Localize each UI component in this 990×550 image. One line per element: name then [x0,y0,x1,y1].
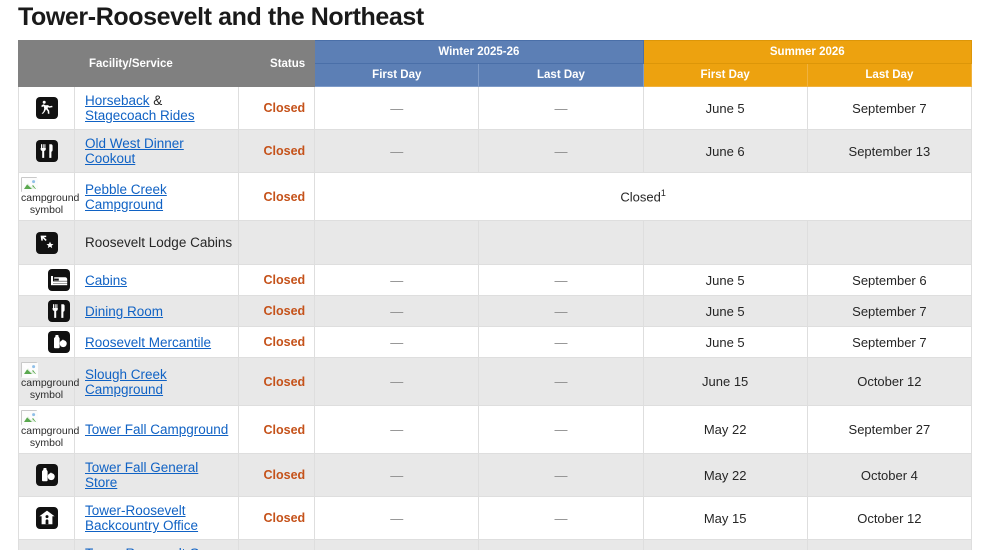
summer-last-day-cell: September 7 [807,327,971,358]
table-row: Tower Fall General StoreClosed——May 22Oc… [19,454,972,497]
winter-last-day-cell: — [479,358,643,406]
status-cell: Closed [239,130,315,173]
summer-last-day-cell: September 6 [807,540,971,550]
icon-cell: campgroundsymbol [19,406,75,454]
winter-last-day-cell: — [479,130,643,173]
table-row: campgroundsymbolPebble Creek CampgroundC… [19,173,972,221]
facility-cell: Roosevelt Lodge Cabins [75,221,239,265]
facility-cell: Old West Dinner Cookout [75,130,239,173]
store-icon [36,464,58,486]
schedule-page: Tower-Roosevelt and the Northeast Facili… [0,0,990,550]
broken-image-alt-line-2: symbol [21,437,72,449]
header-icon-column [19,41,75,87]
winter-last-day-cell: — [479,265,643,296]
status-cell: Closed [239,406,315,454]
winter-last-day-cell: — [479,296,643,327]
icon-cell [19,540,75,550]
header-winter-last-day: Last Day [479,64,643,87]
lodging-cabins-icon [36,232,58,254]
facility-link[interactable]: Tower Fall Campground [85,422,228,437]
icon-cell: campgroundsymbol [19,358,75,406]
icon-cell [19,497,75,540]
winter-first-day-cell: — [315,358,479,406]
facility-cell: Slough Creek Campground [75,358,239,406]
summer-first-day-cell: June 5 [643,296,807,327]
broken-image-icon [21,410,37,425]
facility-link[interactable]: Pebble Creek Campground [85,182,167,212]
winter-first-day-cell [315,221,479,265]
header-status: Status [239,41,315,87]
winter-first-day-cell: — [315,540,479,550]
broken-image-alt-line-1: campground [21,425,72,437]
icon-cell [19,221,75,265]
restaurant-icon [48,300,70,322]
summer-first-day-cell [643,221,807,265]
icon-cell [19,296,75,327]
status-cell: Closed [239,358,315,406]
summer-first-day-cell: May 22 [643,454,807,497]
broken-image-alt-line-1: campground [21,192,72,204]
facility-link[interactable]: Dining Room [85,304,163,319]
table-row: Tower-Roosevelt Gas Station (fuel availa… [19,540,972,550]
summer-last-day-cell: September 7 [807,296,971,327]
winter-first-day-cell: — [315,296,479,327]
facility-cell: Tower-Roosevelt Gas Station (fuel availa… [75,540,239,550]
icon-cell [19,327,75,358]
winter-last-day-cell: — [479,454,643,497]
winter-last-day-cell: — [479,540,643,550]
table-row: Dining RoomClosed——June 5September 7 [19,296,972,327]
facility-link[interactable]: Slough Creek Campground [85,367,167,397]
ranger-station-icon [36,507,58,529]
table-row: Horseback & Stagecoach RidesClosed——June… [19,87,972,130]
broken-image-alt-line-2: symbol [21,389,72,401]
page-title: Tower-Roosevelt and the Northeast [0,0,990,32]
icon-cell [19,87,75,130]
name-joiner: & [150,93,163,108]
summer-first-day-cell: May 22 [643,406,807,454]
summer-first-day-cell: June 5 [643,87,807,130]
status-span-cell: Closed1 [315,173,972,221]
summer-first-day-cell: June 15 [643,358,807,406]
status-cell [239,221,315,265]
table-header-group-row: Facility/Service Status Winter 2025-26 S… [19,41,972,64]
status-cell: Closed [239,296,315,327]
facility-cell: Tower Fall General Store [75,454,239,497]
status-cell: Closed [239,173,315,221]
table-row: CabinsClosed——June 5September 6 [19,265,972,296]
header-winter-first-day: First Day [315,64,479,87]
facility-link[interactable]: Horseback [85,93,150,108]
facility-link[interactable]: Tower Fall General Store [85,460,198,490]
status-cell: Closed [239,265,315,296]
winter-last-day-cell: — [479,87,643,130]
facility-cell: Roosevelt Mercantile [75,327,239,358]
summer-last-day-cell: September 27 [807,406,971,454]
summer-first-day-cell: June 5 [643,540,807,550]
facility-cell: Cabins [75,265,239,296]
facility-cell: Tower Fall Campground [75,406,239,454]
summer-last-day-cell: October 4 [807,454,971,497]
header-winter-group: Winter 2025-26 [315,41,643,64]
facility-cell: Horseback & Stagecoach Rides [75,87,239,130]
summer-last-day-cell: September 6 [807,265,971,296]
winter-last-day-cell: — [479,497,643,540]
bed-icon [48,269,70,291]
facility-cell: Pebble Creek Campground [75,173,239,221]
footnote-ref: 1 [661,188,666,198]
header-summer-last-day: Last Day [807,64,971,87]
winter-first-day-cell: — [315,327,479,358]
table-row: campgroundsymbolTower Fall CampgroundClo… [19,406,972,454]
status-cell: Closed [239,497,315,540]
table-row: Roosevelt Lodge Cabins [19,221,972,265]
broken-image-alt-line-1: campground [21,377,72,389]
horseback-rider-icon [36,97,58,119]
winter-first-day-cell: — [315,87,479,130]
facility-link[interactable]: Old West Dinner Cookout [85,136,184,166]
icon-cell [19,454,75,497]
facility-name: Roosevelt Lodge Cabins [85,235,232,250]
facility-cell: Tower-Roosevelt Backcountry Office [75,497,239,540]
summer-first-day-cell: June 5 [643,265,807,296]
restaurant-icon [36,140,58,162]
header-summer-group: Summer 2026 [643,41,971,64]
summer-first-day-cell: June 5 [643,327,807,358]
header-facility: Facility/Service [75,41,239,87]
table-body: Horseback & Stagecoach RidesClosed——June… [19,87,972,550]
icon-cell [19,265,75,296]
table-row: Old West Dinner CookoutClosed——June 6Sep… [19,130,972,173]
summer-first-day-cell: June 6 [643,130,807,173]
summer-first-day-cell: May 15 [643,497,807,540]
winter-first-day-cell: — [315,130,479,173]
table-header: Facility/Service Status Winter 2025-26 S… [19,41,972,87]
winter-first-day-cell: — [315,265,479,296]
summer-last-day-cell: October 12 [807,497,971,540]
summer-last-day-cell: September 13 [807,130,971,173]
broken-image-alt-line-2: symbol [21,204,72,216]
summer-last-day-cell: October 12 [807,358,971,406]
broken-image-icon [21,177,37,192]
table-row: campgroundsymbolSlough Creek CampgroundC… [19,358,972,406]
table-row: Roosevelt MercantileClosed——June 5Septem… [19,327,972,358]
winter-first-day-cell: — [315,454,479,497]
icon-cell: campgroundsymbol [19,173,75,221]
facility-link[interactable]: Roosevelt Mercantile [85,335,211,350]
facility-schedule-table: Facility/Service Status Winter 2025-26 S… [18,40,972,550]
facility-link[interactable]: Tower-Roosevelt Backcountry Office [85,503,198,533]
status-cell: Closed [239,87,315,130]
broken-image-icon [21,362,37,377]
icon-cell [19,130,75,173]
winter-first-day-cell: — [315,406,479,454]
winter-last-day-cell: — [479,406,643,454]
status-cell: Closed [239,454,315,497]
facility-link[interactable]: Cabins [85,273,127,288]
header-summer-first-day: First Day [643,64,807,87]
status-cell: Closed [239,327,315,358]
store-icon [48,331,70,353]
summer-last-day-cell [807,221,971,265]
status-cell: Closed [239,540,315,550]
table-row: Tower-Roosevelt Backcountry OfficeClosed… [19,497,972,540]
winter-last-day-cell: — [479,327,643,358]
winter-first-day-cell: — [315,497,479,540]
facility-cell: Dining Room [75,296,239,327]
facility-link[interactable]: Tower-Roosevelt Gas Station [85,546,214,550]
facility-link[interactable]: Stagecoach Rides [85,108,195,123]
summer-last-day-cell: September 7 [807,87,971,130]
winter-last-day-cell [479,221,643,265]
